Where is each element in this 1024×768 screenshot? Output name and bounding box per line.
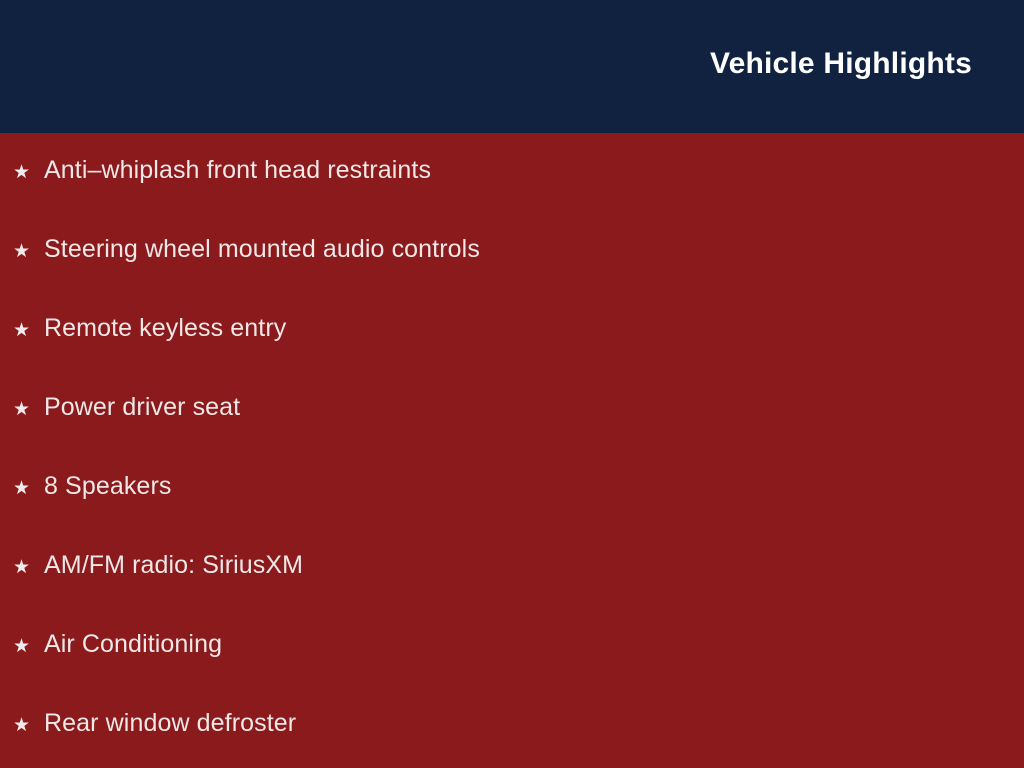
feature-label: Steering wheel mounted audio controls: [44, 234, 480, 264]
star-bullet-icon: ★: [13, 631, 44, 661]
feature-label: Rear window defroster: [44, 708, 296, 738]
feature-label: 8 Speakers: [44, 471, 171, 501]
feature-label: Power driver seat: [44, 392, 240, 422]
page-title: Vehicle Highlights: [710, 46, 972, 82]
list-item: ★ Rear window defroster: [13, 708, 296, 740]
feature-label: Remote keyless entry: [44, 313, 286, 343]
feature-label: AM/FM radio: SiriusXM: [44, 550, 303, 580]
list-item: ★ Remote keyless entry: [13, 313, 286, 345]
star-bullet-icon: ★: [13, 552, 44, 582]
slide-header-band: Vehicle Highlights: [0, 0, 1024, 133]
star-bullet-icon: ★: [13, 394, 44, 424]
star-bullet-icon: ★: [13, 157, 44, 187]
star-bullet-icon: ★: [13, 315, 44, 345]
list-item: ★ 8 Speakers: [13, 471, 171, 503]
vehicle-feature-list: ★ Anti–whiplash front head restraints ★ …: [0, 133, 1024, 768]
list-item: ★ Air Conditioning: [13, 629, 222, 661]
feature-label: Air Conditioning: [44, 629, 222, 659]
star-bullet-icon: ★: [13, 236, 44, 266]
star-bullet-icon: ★: [13, 710, 44, 740]
list-item: ★ Anti–whiplash front head restraints: [13, 155, 431, 187]
vehicle-highlights-slide: Vehicle Highlights ★ Anti–whiplash front…: [0, 0, 1024, 768]
list-item: ★ Power driver seat: [13, 392, 240, 424]
list-item: ★ AM/FM radio: SiriusXM: [13, 550, 303, 582]
star-bullet-icon: ★: [13, 473, 44, 503]
list-item: ★ Steering wheel mounted audio controls: [13, 234, 480, 266]
feature-label: Anti–whiplash front head restraints: [44, 155, 431, 185]
